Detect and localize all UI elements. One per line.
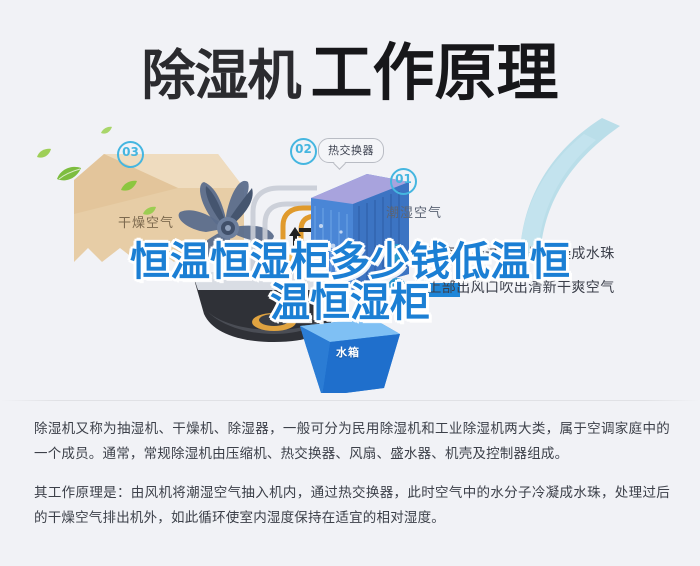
step-item: 03 从上部出风口吹出清新干爽空气 <box>388 270 688 304</box>
leaf-icon <box>100 126 113 135</box>
diagram-badge-02: 02 <box>290 138 317 165</box>
step-list: 02 潮湿空气经过蒸发器冷凝成水珠 03 从上部出风口吹出清新干爽空气 <box>388 236 688 304</box>
diagram-badge-03: 03 <box>117 141 144 168</box>
step-badge: 03 <box>388 278 406 296</box>
heat-exchanger-callout: 热交换器 <box>318 138 384 163</box>
title-part-product: 除湿机 <box>141 31 300 110</box>
title-row: 除湿机 工作原理 <box>141 22 558 112</box>
water-tank-label: 水箱 <box>336 344 360 360</box>
step-text: 从上部出风口吹出清新干爽空气 <box>413 277 615 297</box>
paragraph-definition: 除湿机又称为抽湿机、干燥机、除湿器，一般可分为民用除湿机和工业除湿机两大类，属于… <box>34 416 670 466</box>
dry-air-label: 干燥空气 <box>118 212 174 231</box>
section-divider <box>0 400 700 401</box>
title-part-principle: 工作原理 <box>310 22 558 112</box>
leaf-icon <box>56 166 82 182</box>
page-root: 除湿机 工作原理 <box>0 0 700 566</box>
leaf-icon <box>120 180 138 192</box>
page-title: 除湿机 工作原理 <box>0 22 700 112</box>
body-copy: 除湿机又称为抽湿机、干燥机、除湿器，一般可分为民用除湿机和工业除湿机两大类，属于… <box>34 416 670 530</box>
step-item: 02 潮湿空气经过蒸发器冷凝成水珠 <box>388 236 688 270</box>
step-badge: 02 <box>388 244 406 262</box>
paragraph-principle: 其工作原理是：由风机将潮湿空气抽入机内，通过热交换器，此时空气中的水分子冷凝成水… <box>34 480 670 530</box>
step-text: 潮湿空气经过蒸发器冷凝成水珠 <box>413 243 615 263</box>
diagram-badge-01: 01 <box>390 168 417 195</box>
humid-air-label: 潮湿空气 <box>386 202 442 221</box>
leaf-icon <box>36 148 52 159</box>
